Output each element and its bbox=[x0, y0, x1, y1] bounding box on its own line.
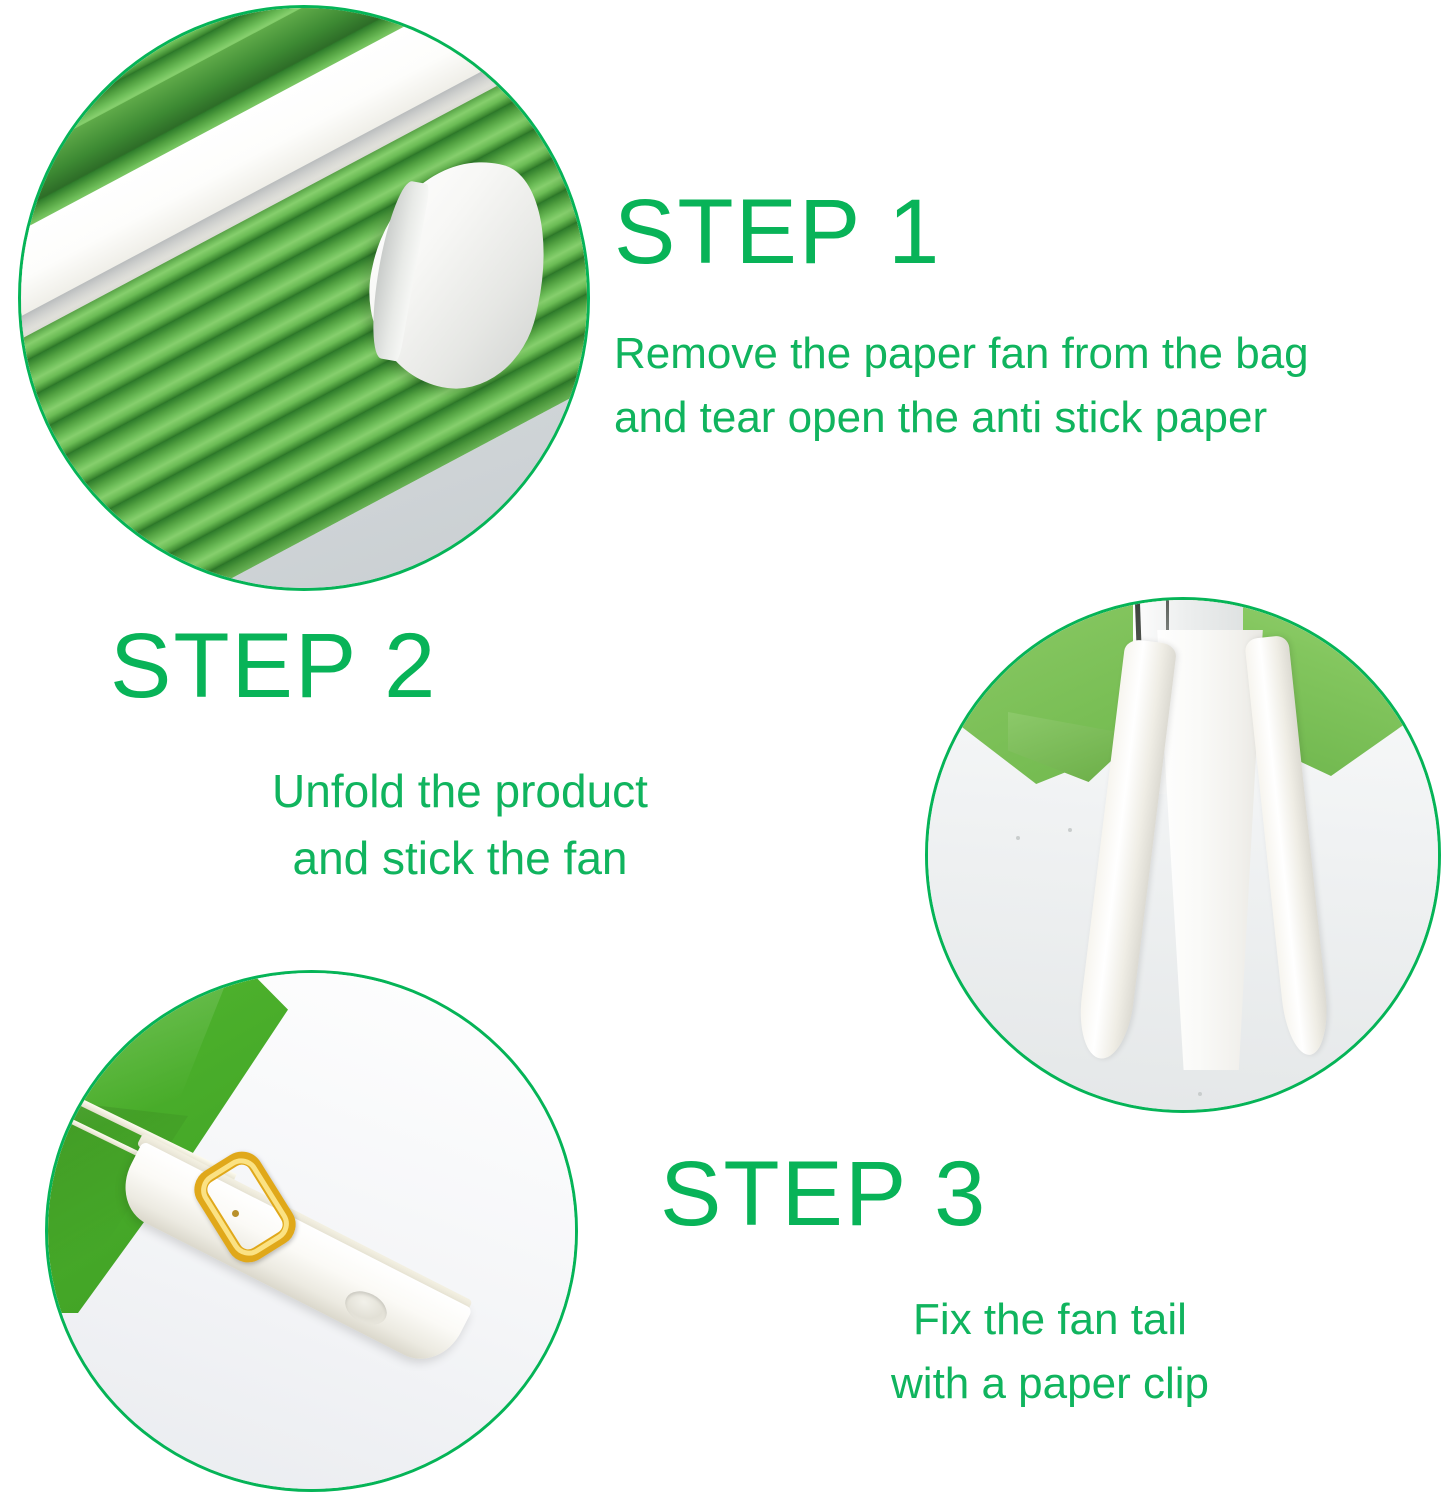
step-3-line-1: Fix the fan tail bbox=[660, 1288, 1440, 1352]
surface-speck bbox=[1198, 1092, 1202, 1096]
step-2-photo-circle bbox=[925, 597, 1441, 1113]
step-2-body: Unfold the product and stick the fan bbox=[110, 758, 810, 891]
step-1-photo-circle bbox=[18, 5, 590, 591]
step-3-text-block: STEP 3 Fix the fan tail with a paper cli… bbox=[660, 1148, 1440, 1416]
step-3-photo-circle bbox=[45, 970, 578, 1492]
paper-clip-pin-dot bbox=[232, 1210, 239, 1217]
step-1-line-2: and tear open the anti stick paper bbox=[614, 386, 1434, 450]
step-2-line-2: and stick the fan bbox=[110, 825, 810, 892]
step-1-photo-inner bbox=[21, 8, 587, 588]
step-3-body: Fix the fan tail with a paper clip bbox=[660, 1288, 1440, 1416]
step-2-photo-inner bbox=[928, 600, 1438, 1110]
step-1-title: STEP 1 bbox=[614, 186, 1434, 278]
step-1-text-block: STEP 1 Remove the paper fan from the bag… bbox=[614, 186, 1434, 450]
step-3-title: STEP 3 bbox=[660, 1148, 1440, 1240]
surface-speck bbox=[1016, 836, 1020, 840]
step-2-text-block: STEP 2 Unfold the product and stick the … bbox=[110, 620, 810, 891]
step-3-line-2: with a paper clip bbox=[660, 1352, 1440, 1416]
surface-speck bbox=[1068, 828, 1072, 832]
step-2-line-1: Unfold the product bbox=[110, 758, 810, 825]
step-1-body: Remove the paper fan from the bag and te… bbox=[614, 322, 1434, 450]
step-1-line-1: Remove the paper fan from the bag bbox=[614, 322, 1434, 386]
instruction-poster: STEP 1 Remove the paper fan from the bag… bbox=[0, 0, 1447, 1500]
step-2-title: STEP 2 bbox=[110, 620, 810, 712]
step-3-photo-inner bbox=[48, 973, 575, 1489]
